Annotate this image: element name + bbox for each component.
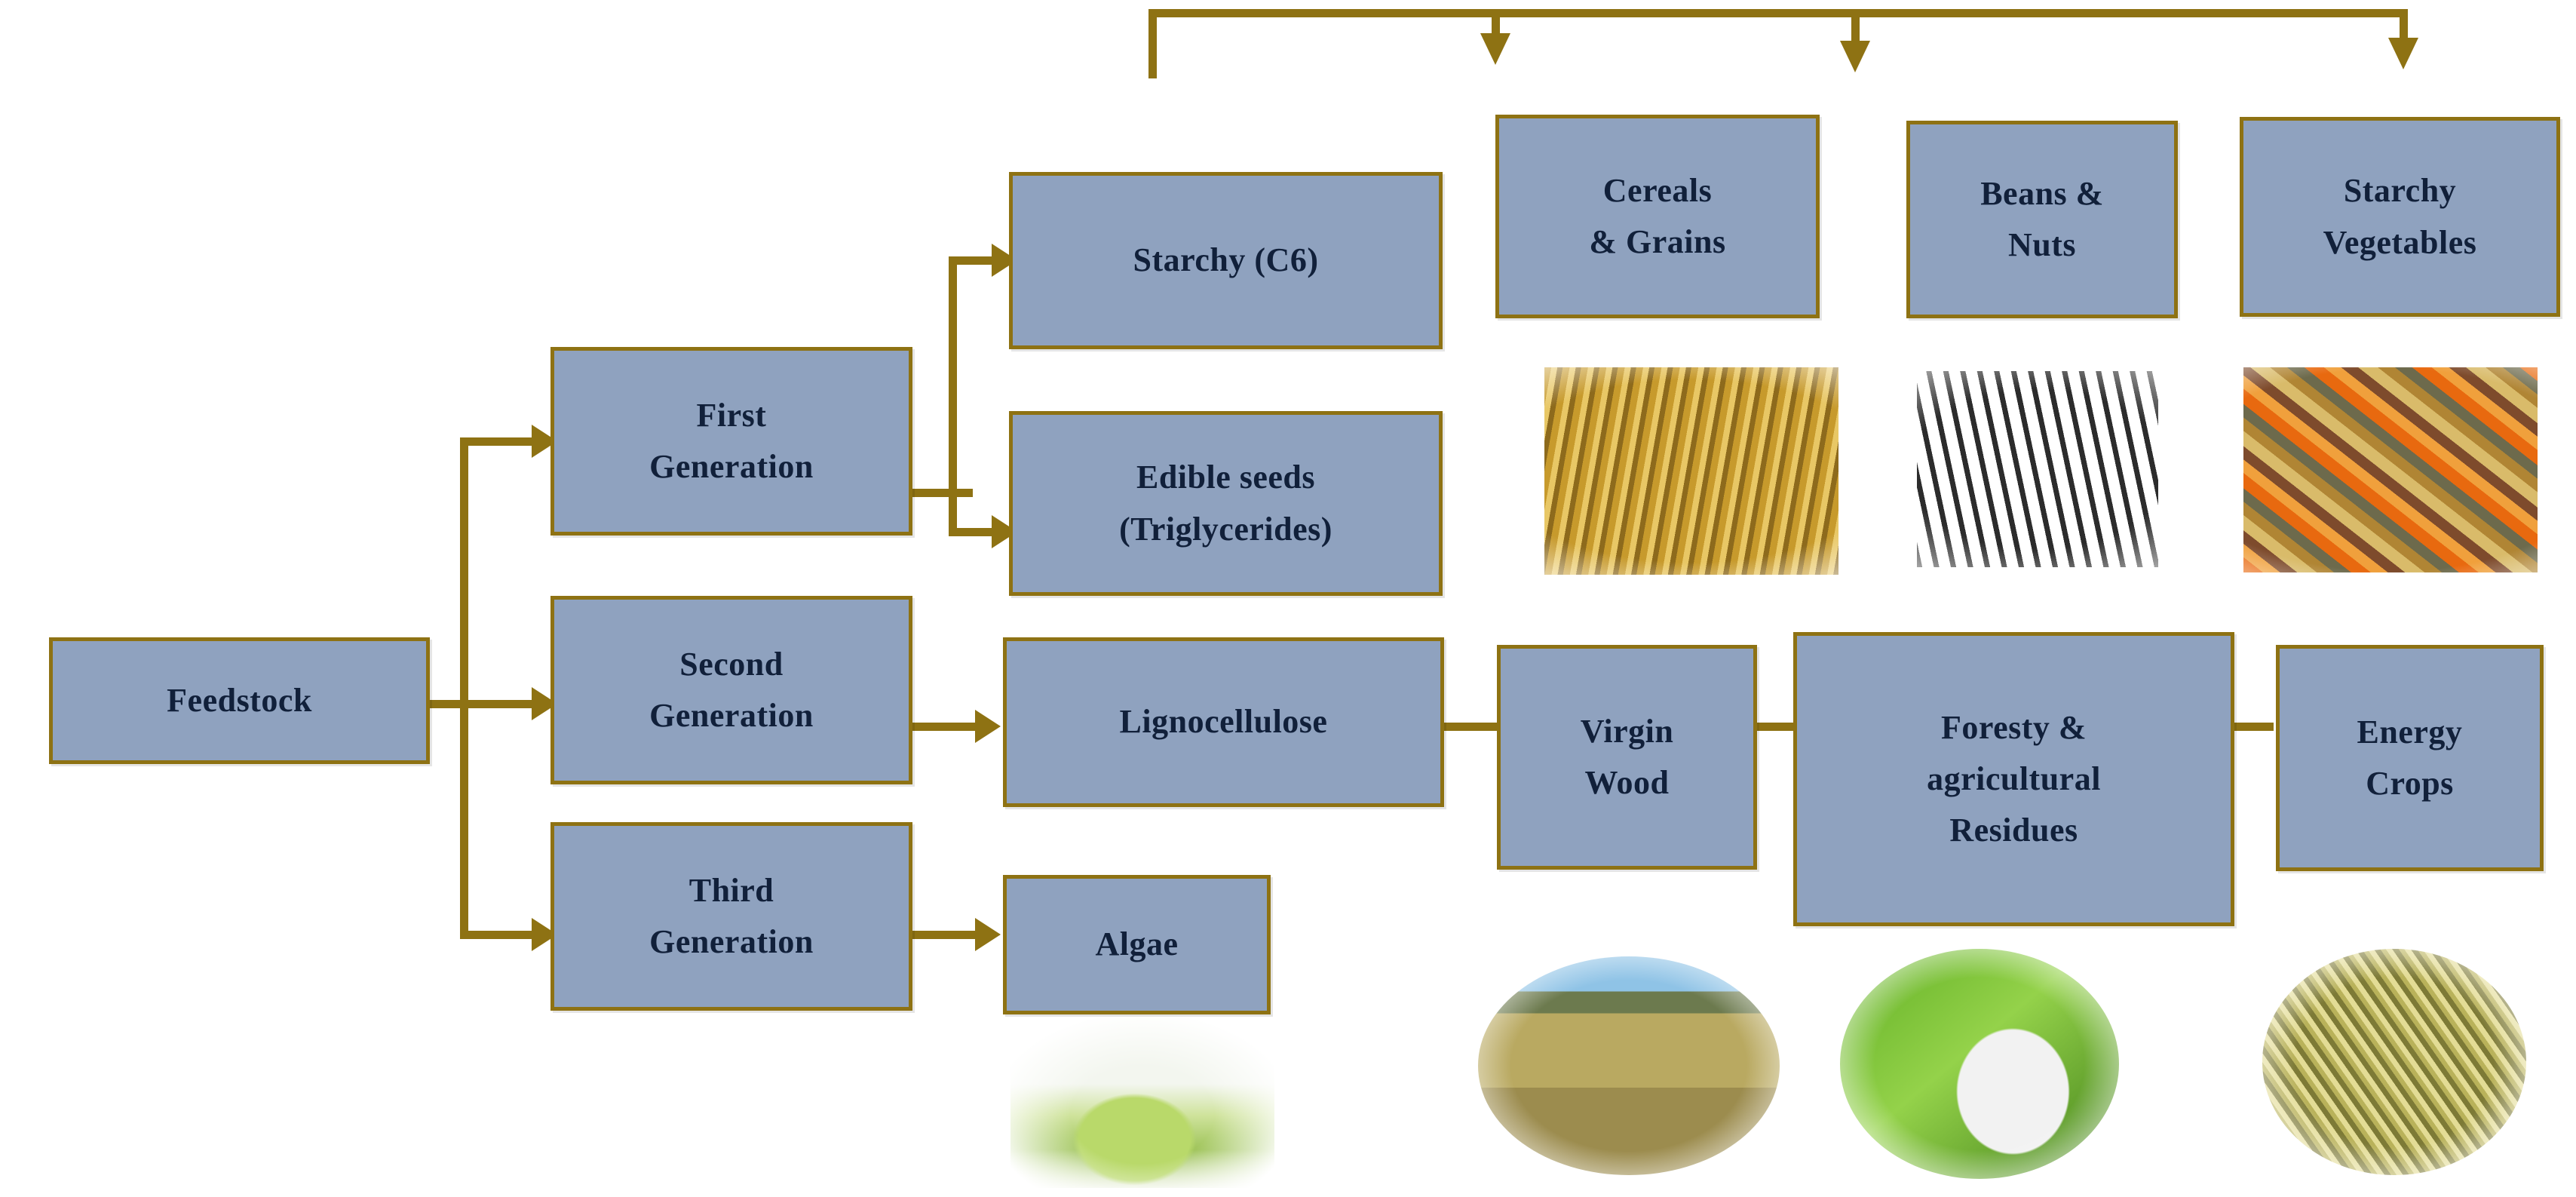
node-edible-seeds[interactable]: Edible seeds (Triglycerides) bbox=[1009, 411, 1443, 596]
node-lignocellulose-line-0: Lignocellulose bbox=[1120, 696, 1328, 747]
edge-bus-to-beans bbox=[1851, 9, 1860, 45]
node-edible-seeds-line-1: (Triglycerides) bbox=[1119, 504, 1332, 555]
photo-starchy-vegetables bbox=[2243, 367, 2538, 572]
node-starchy-vegetables-line-1: Vegetables bbox=[2323, 217, 2477, 269]
edge-trunk-second-gen bbox=[460, 700, 543, 708]
node-energy-crops[interactable]: Energy Crops bbox=[2276, 645, 2544, 871]
node-feedstock[interactable]: Feedstock bbox=[49, 637, 430, 764]
node-algae[interactable]: Algae bbox=[1003, 875, 1271, 1014]
edge-virgin-wood-residues bbox=[1757, 723, 1795, 731]
node-foresty-agricultural-residues[interactable]: Foresty & agricultural Residues bbox=[1793, 632, 2234, 926]
photo-beans-image bbox=[1917, 371, 2158, 567]
photo-beans bbox=[1917, 371, 2158, 567]
photo-field bbox=[1478, 956, 1780, 1175]
node-residues-line-0: Foresty & bbox=[1941, 702, 2087, 753]
node-cereals-and-grains[interactable]: Cereals & Grains bbox=[1495, 115, 1820, 318]
node-virgin-wood-line-0: Virgin bbox=[1581, 706, 1674, 757]
node-virgin-wood[interactable]: Virgin Wood bbox=[1497, 645, 1757, 870]
arrow-to-beans bbox=[1840, 41, 1870, 72]
edge-first-gen-split-vertical bbox=[949, 256, 957, 498]
photo-algae-flask-image bbox=[1010, 1014, 1274, 1188]
node-first-generation-line-0: First bbox=[697, 390, 767, 441]
node-cereals-and-grains-line-0: Cereals bbox=[1603, 165, 1712, 216]
edge-residues-energy-crops bbox=[2232, 723, 2274, 731]
node-edible-seeds-line-0: Edible seeds bbox=[1136, 452, 1315, 503]
photo-algae-flask bbox=[1010, 1014, 1274, 1188]
photo-field-image bbox=[1478, 956, 1780, 1175]
node-starchy-vegetables-line-0: Starchy bbox=[2344, 165, 2456, 216]
node-beans-and-nuts[interactable]: Beans & Nuts bbox=[1906, 121, 2178, 318]
node-third-generation-line-1: Generation bbox=[649, 916, 814, 968]
edge-trunk-first-gen bbox=[460, 437, 543, 446]
node-residues-line-1: agricultural bbox=[1927, 753, 2101, 805]
arrow-to-algae bbox=[975, 918, 1001, 951]
node-second-generation-line-1: Generation bbox=[649, 690, 814, 741]
edge-second-gen-lignocellulose bbox=[909, 723, 980, 731]
node-residues-line-2: Residues bbox=[1949, 805, 2078, 856]
node-virgin-wood-line-1: Wood bbox=[1584, 757, 1669, 809]
node-third-generation-line-0: Third bbox=[689, 865, 774, 916]
node-energy-crops-line-0: Energy bbox=[2357, 707, 2463, 758]
photo-castor-bean-image bbox=[1840, 949, 2119, 1179]
photo-castor-bean bbox=[1840, 949, 2119, 1179]
edge-top-bus bbox=[1148, 9, 2408, 17]
node-starchy-c6[interactable]: Starchy (C6) bbox=[1009, 172, 1443, 349]
edge-starchy-c6-up bbox=[1148, 9, 1157, 78]
edge-lignocellulose-virgin-wood bbox=[1440, 723, 1497, 731]
node-algae-line-0: Algae bbox=[1095, 919, 1178, 970]
photo-wheat-image bbox=[1544, 367, 1838, 575]
node-cereals-and-grains-line-1: & Grains bbox=[1589, 216, 1725, 268]
edge-first-gen-out bbox=[909, 489, 973, 497]
node-third-generation[interactable]: Third Generation bbox=[550, 822, 912, 1011]
flowchart-canvas: Feedstock First Generation Second Genera… bbox=[0, 0, 2576, 1197]
photo-straw-image bbox=[2262, 949, 2526, 1175]
photo-straw bbox=[2262, 949, 2526, 1175]
node-second-generation[interactable]: Second Generation bbox=[550, 596, 912, 784]
node-energy-crops-line-1: Crops bbox=[2366, 758, 2454, 809]
node-second-generation-line-0: Second bbox=[679, 639, 783, 690]
photo-starchy-vegetables-image bbox=[2243, 367, 2538, 572]
node-feedstock-line-0: Feedstock bbox=[167, 675, 312, 726]
arrow-to-lignocellulose bbox=[975, 710, 1001, 743]
arrow-to-cereals bbox=[1480, 33, 1510, 65]
node-starchy-c6-line-0: Starchy (C6) bbox=[1133, 235, 1319, 286]
node-first-generation-line-1: Generation bbox=[649, 441, 814, 493]
edge-trunk-third-gen bbox=[460, 931, 543, 939]
photo-wheat bbox=[1544, 367, 1838, 575]
node-first-generation[interactable]: First Generation bbox=[550, 347, 912, 536]
arrow-to-starchy-veg bbox=[2388, 38, 2418, 69]
node-beans-and-nuts-line-1: Nuts bbox=[2008, 219, 2076, 271]
edge-trunk-vertical bbox=[460, 437, 468, 939]
node-starchy-vegetables[interactable]: Starchy Vegetables bbox=[2240, 117, 2560, 317]
node-beans-and-nuts-line-0: Beans & bbox=[1980, 168, 2104, 219]
node-lignocellulose[interactable]: Lignocellulose bbox=[1003, 637, 1444, 807]
edge-third-gen-algae bbox=[909, 931, 980, 939]
